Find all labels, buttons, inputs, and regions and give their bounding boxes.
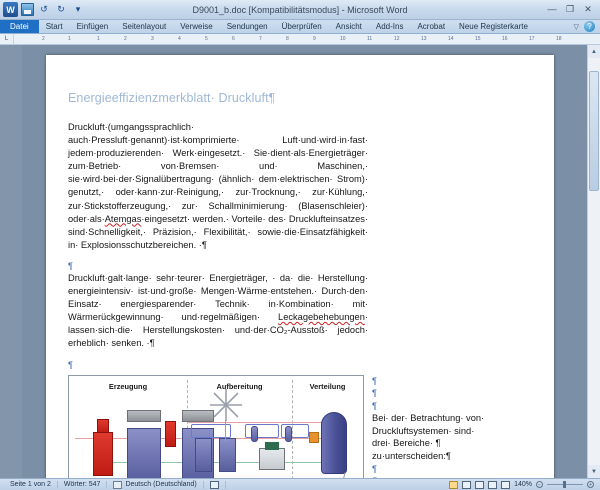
empty-paragraph-mark: ¶ [68, 359, 532, 371]
ruler-tick: 5 [205, 36, 208, 42]
ruler-tick: 15 [475, 36, 481, 42]
help-icon[interactable]: ? [584, 21, 595, 32]
ruler-tick: 2 [42, 36, 45, 42]
tab-acrobat[interactable]: Acrobat [410, 20, 452, 33]
ruler-scale[interactable]: 2 1 1 2 3 4 5 6 7 8 9 10 11 12 13 14 15 … [14, 34, 600, 45]
ruler-tick: 3 [151, 36, 154, 42]
document-workspace[interactable]: Energieeffizienzmerkblatt· Druckluft¶ Dr… [0, 45, 600, 478]
ruler-tick: 2 [124, 36, 127, 42]
zoom-slider[interactable] [547, 484, 583, 485]
ruler-tick: 1 [68, 36, 71, 42]
zoom-in-button[interactable]: + [587, 481, 594, 488]
ruler-tick: 9 [313, 36, 316, 42]
ruler-tick: 14 [448, 36, 454, 42]
web-layout-view-icon[interactable] [475, 481, 484, 489]
spellcheck-word-atemgas[interactable]: Atemgas [105, 214, 142, 224]
ruler-tick: 6 [232, 36, 235, 42]
side-intro-line-3: drei· Bereiche· ¶ [372, 437, 492, 450]
collapse-ribbon-icon[interactable]: ▽ [574, 23, 579, 31]
paragraph-2[interactable]: Druckluft·galt·lange· sehr·teurer· Energ… [68, 272, 368, 351]
control-unit-red [165, 421, 176, 447]
tab-stop-selector-icon[interactable]: L [0, 34, 14, 45]
compressor-red-unit [93, 432, 113, 476]
zoom-level[interactable]: 140% [514, 481, 532, 488]
draft-view-icon[interactable] [501, 481, 510, 489]
status-right-controls[interactable]: 140% − + [449, 481, 596, 489]
tab-ueberpruefen[interactable]: Überprüfen [275, 20, 329, 33]
status-track-changes[interactable] [204, 481, 226, 489]
scroll-up-arrow-icon[interactable]: ▲ [588, 45, 600, 58]
tab-add-ins[interactable]: Add-Ins [369, 20, 411, 33]
left-margin-area [0, 45, 22, 478]
tab-start[interactable]: Start [39, 20, 70, 33]
compressor-red-top [97, 419, 109, 433]
tab-einfuegen[interactable]: Einfügen [70, 20, 116, 33]
figure-and-side-column: Erzeugung Aufbereitung Verteilung [68, 375, 532, 479]
zone-label-erzeugung: Erzeugung [69, 382, 187, 391]
print-layout-view-icon[interactable] [449, 481, 458, 489]
status-language[interactable]: Deutsch (Deutschland) [125, 481, 196, 488]
full-screen-view-icon[interactable] [462, 481, 471, 489]
tab-neue-registerkarte[interactable]: Neue Registerkarte [452, 20, 535, 33]
separator-top [265, 442, 279, 450]
title-bar: W ↺ ↻ ▾ D9001_b.doc [Kompatibilitätsmodu… [0, 0, 600, 20]
dryer-1 [195, 438, 212, 472]
zone-label-verteilung: Verteilung [292, 382, 363, 391]
ruler-tick: 17 [529, 36, 535, 42]
empty-paragraph-mark: ¶ [68, 260, 532, 272]
page-title: Energieeffizienzmerkblatt· Druckluft¶ [68, 91, 532, 105]
side-text-column[interactable]: ¶ ¶ ¶ Bei· der· Betrachtung· von· Druckl… [372, 375, 492, 479]
window-title: D9001_b.doc [Kompatibilitätsmodus] - Mic… [0, 5, 600, 15]
side-intro-line-1: Bei· der· Betrachtung· von· [372, 412, 492, 425]
pipe-supply [187, 422, 327, 423]
valve-orange [309, 432, 319, 443]
status-page-number[interactable]: Seite 1 von 2 [4, 481, 58, 488]
scroll-down-arrow-icon[interactable]: ▼ [588, 465, 600, 478]
tab-ansicht[interactable]: Ansicht [329, 20, 369, 33]
ruler-tick: 1 [97, 36, 100, 42]
empty-paragraph-mark: ¶ [372, 475, 492, 478]
figure-image: Erzeugung Aufbereitung Verteilung [69, 376, 363, 479]
empty-paragraph-mark: ¶ [372, 400, 492, 413]
tab-seitenlayout[interactable]: Seitenlayout [115, 20, 173, 33]
ruler-tick: 10 [340, 36, 346, 42]
track-changes-icon[interactable] [210, 481, 219, 489]
document-page[interactable]: Energieeffizienzmerkblatt· Druckluft¶ Dr… [46, 55, 554, 478]
outline-view-icon[interactable] [488, 481, 497, 489]
status-proofing[interactable]: Deutsch (Deutschland) [107, 481, 203, 489]
storage-tank [321, 412, 347, 474]
ruler-tick: 8 [286, 36, 289, 42]
compressor-1-body [127, 428, 161, 479]
condensate-separator [259, 448, 285, 470]
tab-verweise[interactable]: Verweise [173, 20, 219, 33]
status-bar[interactable]: Seite 1 von 2 Wörter: 547 Deutsch (Deuts… [0, 478, 600, 490]
ruler-tick: 13 [421, 36, 427, 42]
compressor-1-top [127, 410, 161, 422]
empty-paragraph-mark: ¶ [372, 463, 492, 476]
side-intro-line-4: zu·unterscheiden:¶ [372, 450, 492, 463]
fan-stem [225, 420, 226, 442]
scrollbar-thumb[interactable] [589, 71, 599, 191]
ruler-tick: 18 [556, 36, 562, 42]
ruler-tick: 7 [259, 36, 262, 42]
empty-paragraph-mark: ¶ [372, 387, 492, 400]
ruler-tick: 11 [367, 36, 372, 42]
paragraph-1[interactable]: Druckluft·(umgangssprachlich· auch·Press… [68, 121, 368, 252]
ruler-tick: 12 [394, 36, 400, 42]
filter-1 [251, 426, 258, 442]
filter-2 [285, 426, 292, 442]
ruler-tick: 4 [178, 36, 181, 42]
empty-paragraph-mark: ¶ [372, 375, 492, 388]
status-word-count[interactable]: Wörter: 547 [58, 481, 108, 488]
zoom-slider-knob[interactable] [563, 481, 566, 488]
spellcheck-word-leckagebehebungen[interactable]: Leckagebehebungen [278, 312, 365, 322]
paragraph-1-text: Druckluft·(umgangssprachlich· auch·Press… [68, 122, 368, 224]
ribbon-tab-bar[interactable]: Datei Start Einfügen Seitenlayout Verwei… [0, 20, 600, 34]
side-intro-line-2: Druckluftsystemen· sind· [372, 425, 492, 438]
fan-star-icon [209, 388, 243, 422]
ribbon-right-controls[interactable]: ▽ ? [574, 20, 600, 33]
horizontal-ruler[interactable]: L 2 1 1 2 3 4 5 6 7 8 9 10 11 12 13 14 1… [0, 34, 600, 45]
tab-sendungen[interactable]: Sendungen [220, 20, 275, 33]
tab-datei[interactable]: Datei [0, 20, 39, 33]
proofing-icon[interactable] [113, 481, 122, 489]
ruler-tick: 16 [502, 36, 508, 42]
zoom-out-button[interactable]: − [536, 481, 543, 488]
figure-druckluftsystem[interactable]: Erzeugung Aufbereitung Verteilung [68, 375, 364, 479]
dryer-2 [219, 438, 236, 472]
vertical-scrollbar[interactable]: ▲ ▼ [587, 45, 600, 478]
